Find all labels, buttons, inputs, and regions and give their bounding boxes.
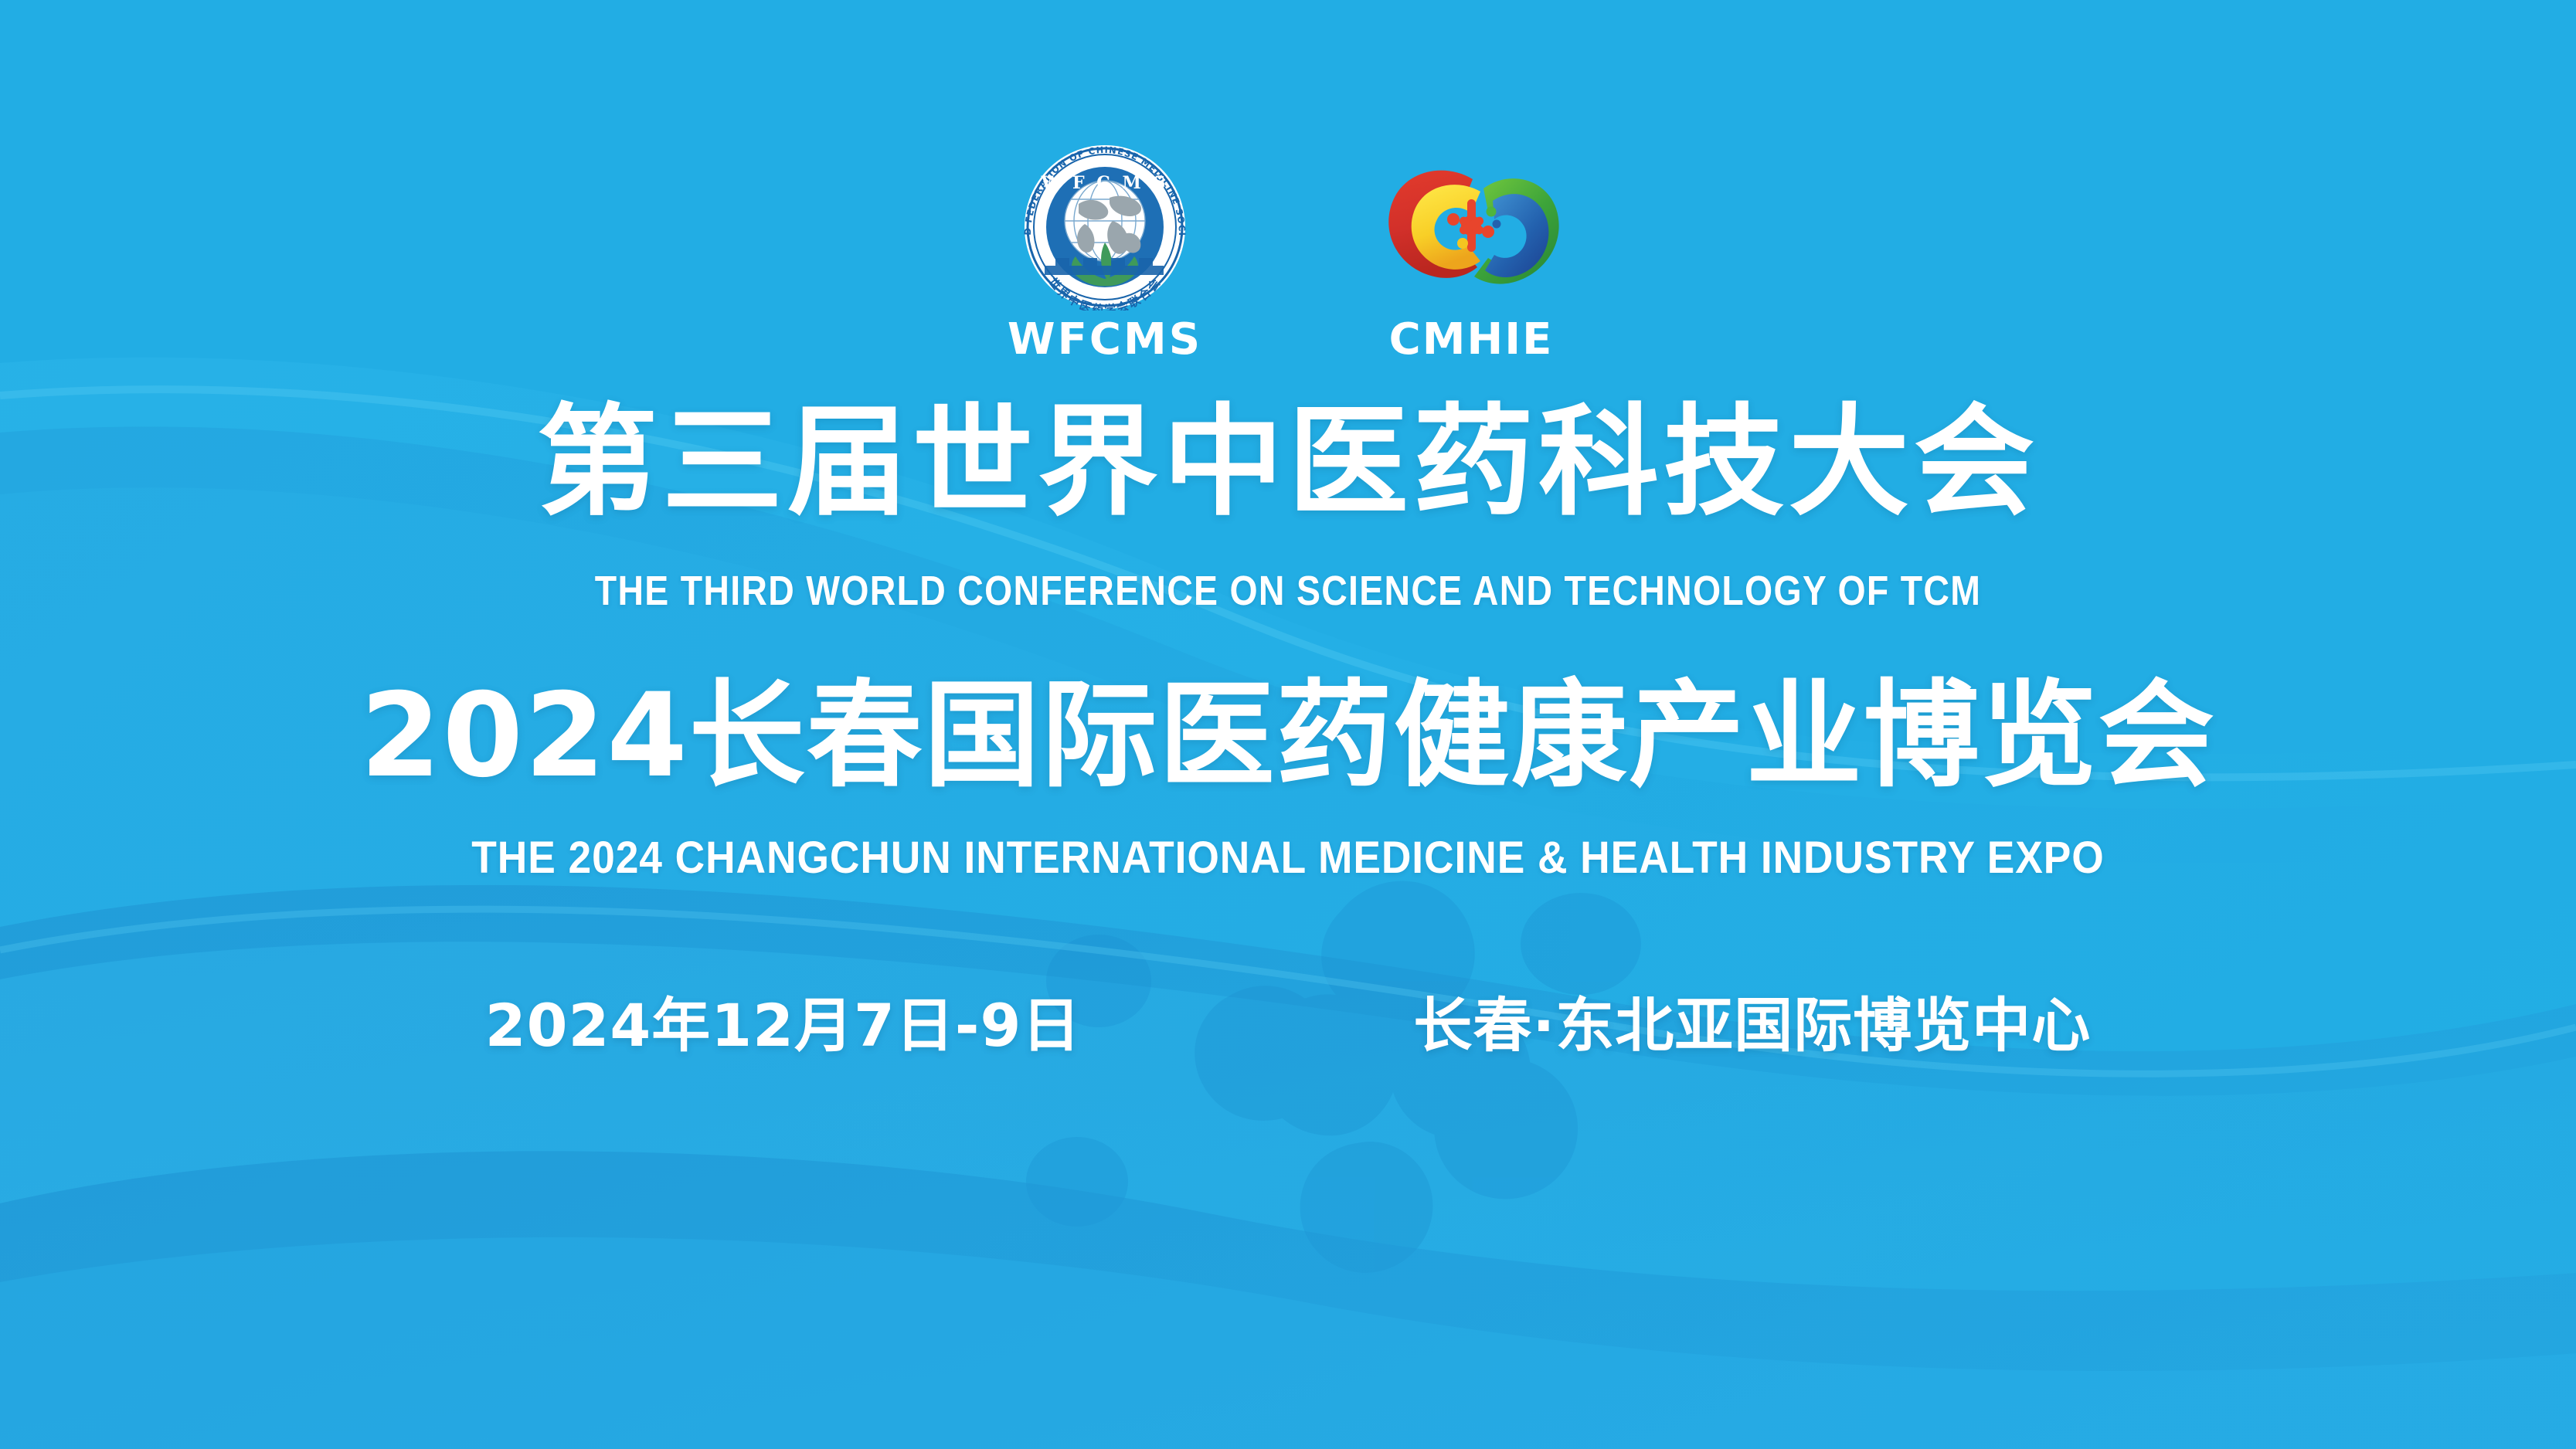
molecule-decoration: [1026, 881, 1641, 1273]
expo-title-en: THE 2024 CHANGCHUN INTERNATIONAL MEDICIN…: [103, 836, 2472, 881]
event-info-row: 2024年12月7日-9日 长春·东北亚国际博览中心: [0, 996, 2576, 1055]
cmhie-logo-caption: CMHIE: [1389, 318, 1554, 361]
conference-title-en: THE THIRD WORLD CONFERENCE ON SCIENCE AN…: [180, 570, 2395, 612]
wfcms-logo-caption: WFCMS: [1008, 318, 1202, 361]
conference-title-zh: 第三届世界中医药科技大会: [0, 402, 2576, 522]
event-poster: WORLD FEDERATION OF CHINESE MEDICINE SOC…: [0, 0, 2576, 1449]
cmhie-logo-block: CMHIE: [1371, 144, 1572, 361]
expo-title-zh: 2024长春国际医药健康产业博览会: [0, 678, 2576, 794]
event-date: 2024年12月7日-9日: [485, 996, 1082, 1055]
wfcms-logo-block: WORLD FEDERATION OF CHINESE MEDICINE SOC…: [1004, 144, 1205, 361]
logo-row: WORLD FEDERATION OF CHINESE MEDICINE SOC…: [0, 144, 2576, 361]
wfcms-emblem-icon: WORLD FEDERATION OF CHINESE MEDICINE SOC…: [1004, 144, 1205, 310]
event-venue: 长春·东北亚国际博览中心: [1413, 996, 2091, 1055]
svg-text:W F C M S: W F C M S: [1041, 173, 1169, 193]
cmhie-ribbon-icon: [1371, 144, 1572, 310]
